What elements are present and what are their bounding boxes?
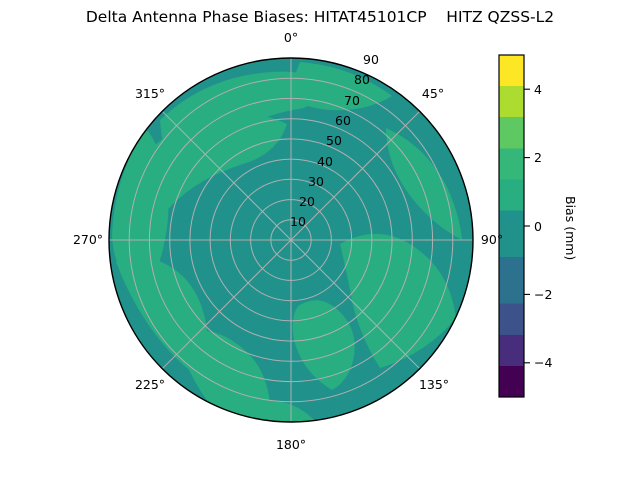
- r-label-80: 80: [354, 72, 370, 87]
- polar-contour-figure: Delta Antenna Phase Biases: HITAT45101CP…: [0, 0, 640, 480]
- colorbar-tick-minus4: −4: [534, 355, 552, 370]
- polar-grid-spokes: [109, 58, 473, 422]
- colorbar-tick-4: 4: [534, 82, 542, 97]
- r-label-40: 40: [317, 154, 333, 169]
- colorbar-ticks: [524, 89, 530, 363]
- colorbar-tick-minus2: −2: [534, 287, 552, 302]
- colorbar-gradient: [499, 55, 524, 397]
- r-label-50: 50: [326, 133, 342, 148]
- r-label-20: 20: [299, 194, 315, 209]
- theta-label-225: 225°: [124, 377, 176, 392]
- theta-label-315: 315°: [124, 86, 176, 101]
- theta-label-90: 90°: [477, 232, 507, 247]
- colorbar-tick-0: 0: [534, 219, 542, 234]
- theta-label-270: 270°: [62, 232, 114, 247]
- r-label-10: 10: [290, 214, 306, 229]
- theta-label-0: 0°: [270, 30, 312, 45]
- colorbar-label: Bias (mm): [563, 196, 578, 260]
- theta-label-135: 135°: [408, 377, 460, 392]
- colorbar-tick-2: 2: [534, 150, 542, 165]
- theta-label-180: 180°: [265, 437, 317, 452]
- r-label-70: 70: [344, 93, 360, 108]
- r-label-90: 90: [363, 52, 379, 67]
- r-label-60: 60: [335, 113, 351, 128]
- theta-label-45: 45°: [412, 86, 454, 101]
- r-label-30: 30: [308, 174, 324, 189]
